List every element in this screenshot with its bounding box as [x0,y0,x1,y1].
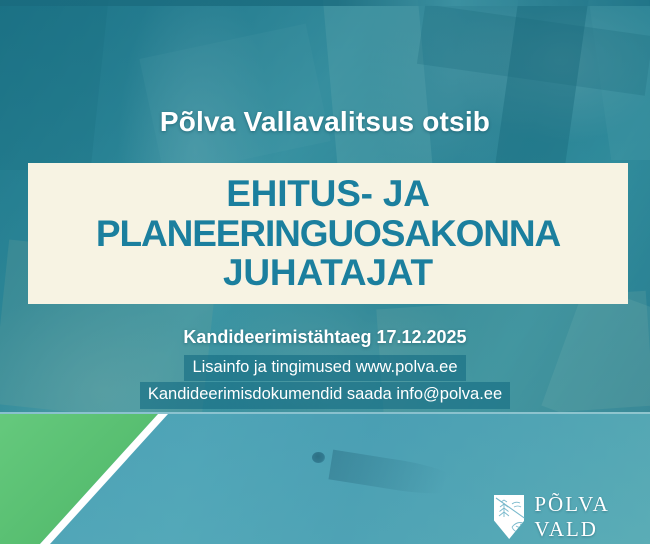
job-title-line-2: PLANEERINGUOSAKONNA [28,214,628,254]
job-advertisement-poster: Põlva Vallavalitsus otsib EHITUS- JA PLA… [0,0,650,544]
contact-info-row: Kandideerimisdokumendid saada info@polva… [0,382,650,408]
email-info-line: Kandideerimisdokumendid saada info@polva… [140,382,510,408]
job-title-line-1: EHITUS- JA [28,174,628,214]
job-title-banner: EHITUS- JA PLANEERINGUOSAKONNA JUHATAJAT [28,163,628,304]
polva-coat-of-arms-shield-icon [494,495,524,539]
top-edge-strip [0,0,650,6]
website-info-line: Lisainfo ja tingimused www.polva.ee [184,355,465,381]
job-title-line-3: JUHATAJAT [28,253,628,293]
section-divider-line [0,412,650,414]
job-title-block: EHITUS- JA PLANEERINGUOSAKONNA JUHATAJAT [28,174,628,293]
contact-info-row: Lisainfo ja tingimused www.polva.ee [0,355,650,381]
application-deadline-text: Kandideerimistähtaeg 17.12.2025 [0,327,650,348]
contact-info-block: Lisainfo ja tingimused www.polva.ee Kand… [0,355,650,409]
logo-text-polva-vald: PÕLVA VALD [534,492,650,542]
poster-kicker-heading: Põlva Vallavalitsus otsib [0,106,650,138]
polva-vald-logo: PÕLVA VALD [494,492,650,542]
job-title-text: EHITUS- JA PLANEERINGUOSAKONNA JUHATAJAT [28,174,628,293]
